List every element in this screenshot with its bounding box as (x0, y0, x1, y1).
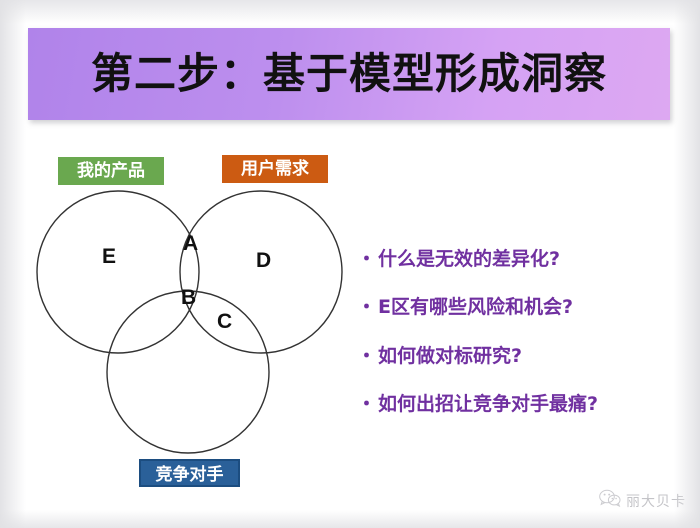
list-item: ・如何出招让竞争对手最痛? (357, 394, 677, 415)
list-item: ・如何做对标研究? (357, 345, 677, 366)
label-user-demand: 用户需求 (222, 155, 328, 183)
bullet-dot-icon: ・ (357, 346, 376, 366)
venn-label-C: C (217, 310, 232, 334)
slide-canvas: 第二步：基于模型形成洞察 我的产品 用户需求 竞争对手 E A D B C ・什… (0, 0, 700, 528)
bullet-dot-icon: ・ (357, 394, 376, 414)
list-item: ・什么是无效的差异化? (357, 248, 677, 269)
bullet-dot-icon: ・ (357, 297, 376, 317)
question-text: 如何出招让竞争对手最痛? (378, 394, 598, 414)
label-my-product: 我的产品 (58, 157, 164, 185)
page-title: 第二步：基于模型形成洞察 (28, 28, 670, 120)
venn-label-E: E (102, 245, 116, 269)
watermark-text: 丽大贝卡 (626, 491, 686, 511)
question-text: E区有哪些风险和机会? (378, 297, 573, 317)
list-item: ・E区有哪些风险和机会? (357, 297, 677, 318)
question-text: 什么是无效的差异化? (378, 249, 560, 269)
label-competitor: 竞争对手 (139, 459, 240, 487)
venn-diagram: E A D B C (30, 150, 360, 500)
venn-circles-svg (30, 150, 360, 500)
watermark: 丽大贝卡 (599, 489, 686, 512)
wechat-icon (599, 489, 621, 512)
bullet-dot-icon: ・ (357, 249, 376, 269)
venn-circle-competitor (107, 291, 269, 453)
venn-label-B: B (181, 286, 196, 310)
venn-label-A: A (183, 232, 198, 256)
insight-question-list: ・什么是无效的差异化? ・E区有哪些风险和机会? ・如何做对标研究? ・如何出招… (357, 248, 677, 414)
venn-circle-my-product (37, 191, 199, 353)
question-text: 如何做对标研究? (378, 346, 522, 366)
venn-label-D: D (256, 249, 271, 273)
slide-title-bar: 第二步：基于模型形成洞察 (28, 28, 670, 120)
